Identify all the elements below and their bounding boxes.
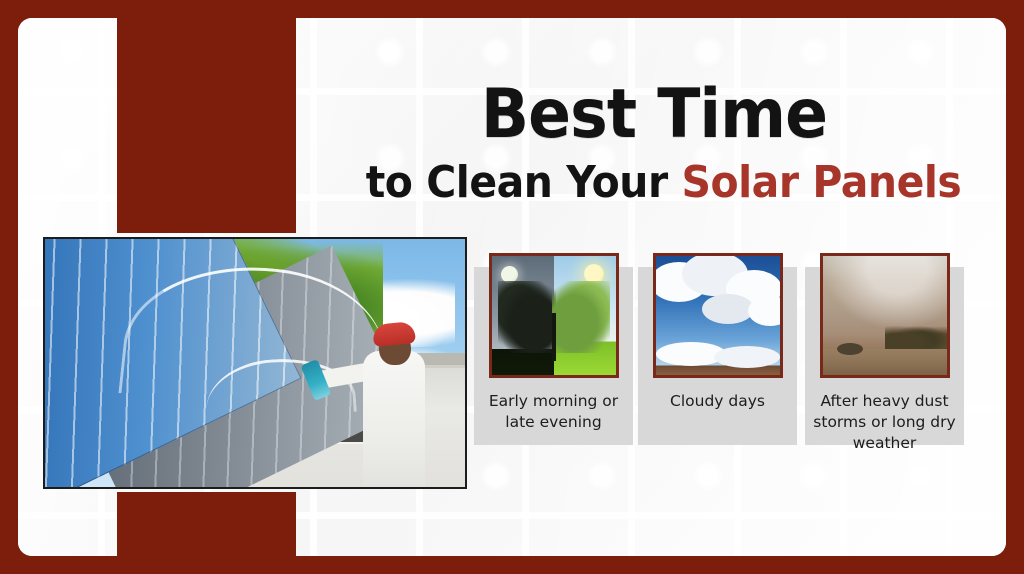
day-night-tree-thumbnail <box>489 253 619 378</box>
title-accent-text: Solar Panels <box>681 157 961 208</box>
tree-trunk <box>552 313 556 361</box>
tree-light <box>552 281 610 353</box>
cloud-icon <box>702 294 754 324</box>
page-title: Best Time to Clean Your Solar Panels <box>344 78 964 208</box>
dust-glow <box>823 256 947 330</box>
tree-dark <box>498 281 556 353</box>
info-card-caption: Cloudy days <box>640 391 795 412</box>
title-line-primary: Best Time <box>366 78 943 152</box>
cloud-icon <box>714 346 780 368</box>
hero-photo <box>43 237 467 489</box>
hero-worker-body <box>363 351 425 489</box>
title-line-secondary: to Clean Your Solar Panels <box>366 158 943 208</box>
info-card: Early morning or late evening <box>474 267 633 445</box>
info-card-caption: After heavy dust storms or long dry weat… <box>807 391 962 454</box>
dust-storm-thumbnail <box>820 253 950 378</box>
info-card: After heavy dust storms or long dry weat… <box>805 267 964 445</box>
info-card-caption: Early morning or late evening <box>476 391 631 433</box>
content-card: Best Time to Clean Your Solar Panels <box>18 18 1006 556</box>
accent-block-bottom <box>117 492 296 556</box>
dust-rock <box>837 343 863 355</box>
accent-block-top <box>117 18 296 233</box>
info-card: Cloudy days <box>638 267 797 445</box>
infographic-root: Best Time to Clean Your Solar Panels <box>0 0 1024 574</box>
title-prefix: to Clean Your <box>366 157 682 208</box>
cloudy-sky-thumbnail <box>653 253 783 378</box>
